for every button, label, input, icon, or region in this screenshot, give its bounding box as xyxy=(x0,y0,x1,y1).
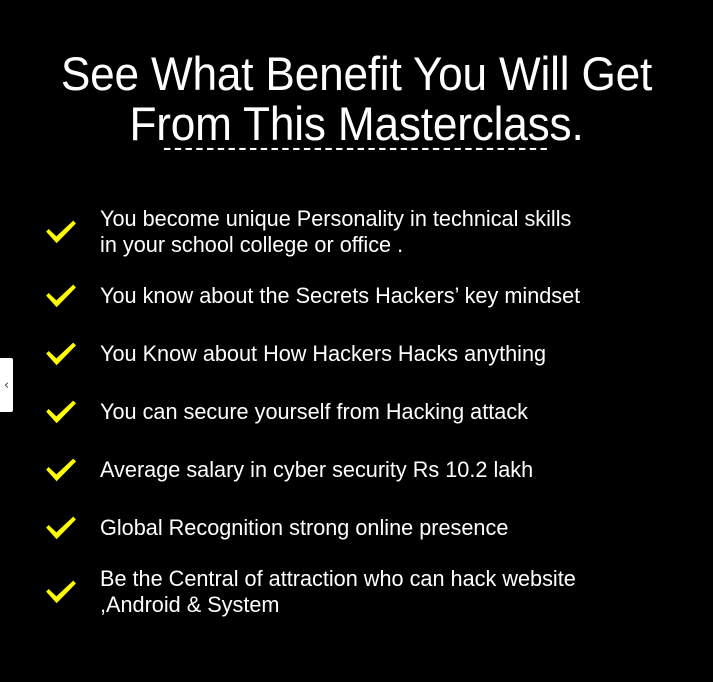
dashed-divider: ------------------------------------ xyxy=(0,134,713,160)
benefit-item: You Know about How Hackers Hacks anythin… xyxy=(44,334,704,374)
benefit-item: You become unique Personality in technic… xyxy=(44,206,704,258)
chevron-left-icon: ‹ xyxy=(4,379,9,392)
benefit-text: You know about the Secrets Hackers’ key … xyxy=(100,283,580,309)
benefit-item: Global Recognition strong online presenc… xyxy=(44,508,704,548)
benefit-item: You can secure yourself from Hacking att… xyxy=(44,392,704,432)
check-icon xyxy=(44,395,84,429)
benefit-text: You become unique Personality in technic… xyxy=(100,206,571,258)
check-icon xyxy=(44,511,84,545)
check-icon xyxy=(44,337,84,371)
benefit-text: Average salary in cyber security Rs 10.2… xyxy=(100,457,533,483)
check-icon xyxy=(44,453,84,487)
benefits-list: You become unique Personality in technic… xyxy=(44,206,704,636)
benefit-text: You can secure yourself from Hacking att… xyxy=(100,399,528,425)
benefit-item: Be the Central of attraction who can hac… xyxy=(44,566,704,618)
benefit-text: Be the Central of attraction who can hac… xyxy=(100,566,576,618)
check-icon xyxy=(44,215,84,249)
benefit-text: Global Recognition strong online presenc… xyxy=(100,515,508,541)
check-icon xyxy=(44,279,84,313)
check-icon xyxy=(44,575,84,609)
benefit-text: You Know about How Hackers Hacks anythin… xyxy=(100,341,546,367)
benefit-item: Average salary in cyber security Rs 10.2… xyxy=(44,450,704,490)
benefit-item: You know about the Secrets Hackers’ key … xyxy=(44,276,704,316)
side-panel-toggle[interactable]: ‹ xyxy=(0,358,13,412)
slide-canvas: See What Benefit You Will Get From This … xyxy=(0,0,713,682)
